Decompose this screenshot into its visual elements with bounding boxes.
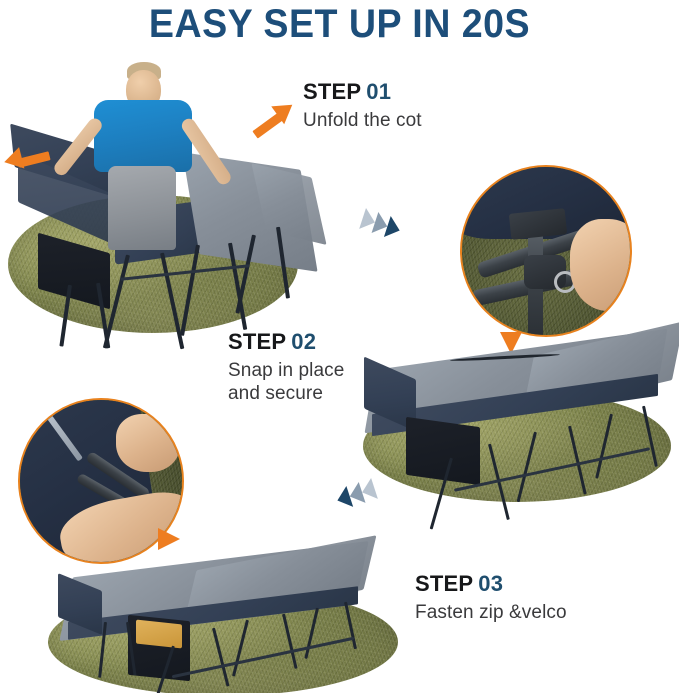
- step-1-text-block: STEP01 Unfold the cot: [303, 80, 422, 132]
- cot-illustration-step3: [40, 552, 390, 692]
- step-3-text-block: STEP03 Fasten zip &velco: [415, 572, 567, 624]
- cot-pocket-brand-label: [136, 620, 182, 649]
- person-pants: [108, 166, 176, 250]
- cot-leg: [595, 414, 613, 479]
- inset-hand: [570, 219, 632, 311]
- step-2-heading: STEP02: [228, 330, 344, 354]
- step-3-heading: STEP03: [415, 572, 567, 596]
- step-1-description: Unfold the cot: [303, 109, 422, 132]
- step-1-heading: STEP01: [303, 80, 422, 104]
- step-3-description: Fasten zip &velco: [415, 601, 567, 624]
- step-3-label: STEP: [415, 571, 473, 596]
- infographic-poster: EASY SET UP IN 20S: [0, 0, 679, 693]
- inset-hand-upper: [116, 414, 180, 472]
- cot-leg: [232, 620, 249, 677]
- inset-locking-mechanism: [460, 165, 632, 337]
- step-2-label: STEP: [228, 329, 286, 354]
- step-1-label: STEP: [303, 79, 361, 104]
- cot-leg: [212, 628, 229, 687]
- person-shirt: [94, 100, 192, 172]
- cot-cross-bar: [120, 264, 250, 281]
- page-title: EASY SET UP IN 20S: [20, 2, 658, 47]
- inset-2-pointer: [158, 528, 180, 550]
- cot-leg: [344, 602, 357, 650]
- step-2-number: 02: [291, 329, 316, 354]
- cot-illustration-step2: [352, 340, 679, 500]
- cot-leg: [642, 406, 658, 467]
- cot-lower-rail: [454, 447, 650, 492]
- person-unfolding-cot: [78, 62, 228, 242]
- step-3-number: 03: [478, 571, 503, 596]
- step-2-text-block: STEP02 Snap in place and secure: [228, 330, 344, 406]
- inset-1-photo: [462, 167, 630, 335]
- step-2-description: Snap in place and secure: [228, 359, 344, 405]
- step-1-number: 01: [366, 79, 391, 104]
- cot-lower-rail: [172, 637, 355, 679]
- cot-leg: [517, 432, 537, 503]
- cot-side-pocket-step2: [406, 417, 480, 485]
- cot-leg: [282, 614, 298, 669]
- cot-leg: [304, 608, 319, 659]
